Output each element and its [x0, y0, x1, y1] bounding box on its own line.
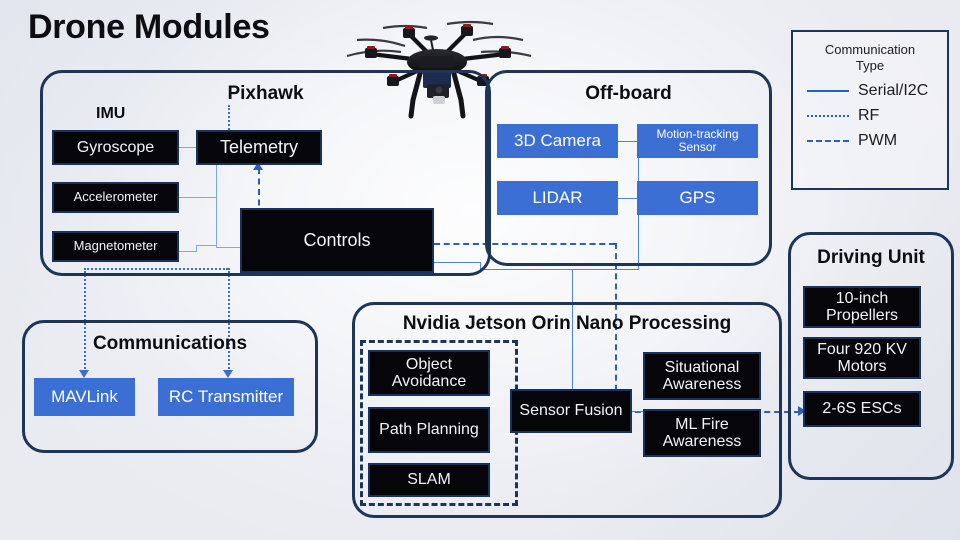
box-accelerometer[interactable]: Accelerometer — [52, 182, 179, 213]
box-magnetometer-label: Magnetometer — [74, 239, 158, 253]
box-path-planning[interactable]: Path Planning — [368, 407, 490, 453]
label-imu: IMU — [96, 105, 125, 123]
legend-item-rf: RF — [807, 107, 947, 125]
box-gps-label: GPS — [680, 189, 716, 207]
legend-label-rf: RF — [858, 107, 879, 125]
box-controls[interactable]: Controls — [240, 208, 434, 273]
diagram-canvas: Drone Modules — [0, 0, 960, 540]
box-motors[interactable]: Four 920 KV Motors — [803, 337, 921, 379]
legend-line-dashed-icon — [807, 140, 849, 142]
group-title-communications: Communications — [25, 333, 315, 355]
legend-item-pwm: PWM — [807, 132, 947, 150]
box-situational-awareness-label: Situational Awareness — [645, 359, 759, 394]
box-situational-awareness[interactable]: Situational Awareness — [643, 352, 761, 400]
group-title-jetson: Nvidia Jetson Orin Nano Processing — [355, 313, 779, 335]
box-gyroscope[interactable]: Gyroscope — [52, 130, 179, 165]
legend-communication-type: Communication Type Serial/I2C RF PWM — [791, 30, 949, 190]
box-propellers-label: 10-inch Propellers — [805, 290, 919, 325]
box-ml-fire-awareness[interactable]: ML Fire Awareness — [643, 409, 761, 457]
box-gyroscope-label: Gyroscope — [77, 139, 154, 156]
box-mavlink-label: MAVLink — [51, 388, 118, 406]
legend-label-serial-i2c: Serial/I2C — [858, 82, 928, 100]
box-object-avoidance[interactable]: Object Avoidance — [368, 350, 490, 396]
box-gps[interactable]: GPS — [637, 181, 758, 215]
box-accelerometer-label: Accelerometer — [74, 190, 158, 204]
box-escs[interactable]: 2-6S ESCs — [803, 391, 921, 427]
legend-line-solid-icon — [807, 90, 849, 92]
group-title-offboard: Off-board — [488, 83, 769, 105]
box-rc-transmitter[interactable]: RC Transmitter — [158, 378, 294, 416]
box-slam[interactable]: SLAM — [368, 463, 490, 497]
group-offboard: Off-board — [485, 70, 772, 266]
legend-label-pwm: PWM — [858, 132, 897, 150]
box-motion-tracking-sensor-label: Motion-tracking Sensor — [637, 128, 758, 154]
legend-title-line1: Communication — [793, 42, 947, 58]
box-lidar-label: LIDAR — [532, 189, 582, 207]
box-motors-label: Four 920 KV Motors — [805, 341, 919, 376]
group-title-pixhawk: Pixhawk — [43, 83, 488, 105]
box-controls-label: Controls — [303, 231, 370, 250]
box-propellers[interactable]: 10-inch Propellers — [803, 286, 921, 328]
box-sensor-fusion[interactable]: Sensor Fusion — [510, 389, 632, 433]
legend-line-dotted-icon — [807, 115, 849, 117]
box-sensor-fusion-label: Sensor Fusion — [519, 402, 622, 419]
box-ml-fire-awareness-label: ML Fire Awareness — [645, 416, 759, 451]
legend-title: Communication Type — [793, 42, 947, 75]
legend-title-line2: Type — [793, 58, 947, 74]
box-lidar[interactable]: LIDAR — [497, 181, 618, 215]
group-title-driving-unit: Driving Unit — [791, 247, 951, 269]
box-mavlink[interactable]: MAVLink — [34, 378, 135, 416]
page-title: Drone Modules — [28, 8, 270, 47]
legend-item-serial-i2c: Serial/I2C — [807, 82, 947, 100]
box-motion-tracking-sensor[interactable]: Motion-tracking Sensor — [637, 124, 758, 158]
box-3d-camera-label: 3D Camera — [514, 132, 601, 150]
box-path-planning-label: Path Planning — [379, 421, 479, 438]
box-rc-transmitter-label: RC Transmitter — [169, 388, 283, 406]
box-telemetry[interactable]: Telemetry — [196, 130, 322, 165]
box-3d-camera[interactable]: 3D Camera — [497, 124, 618, 158]
box-object-avoidance-label: Object Avoidance — [370, 356, 488, 391]
box-magnetometer[interactable]: Magnetometer — [52, 231, 179, 262]
box-slam-label: SLAM — [407, 471, 451, 488]
box-telemetry-label: Telemetry — [220, 138, 298, 157]
box-escs-label: 2-6S ESCs — [822, 400, 901, 417]
